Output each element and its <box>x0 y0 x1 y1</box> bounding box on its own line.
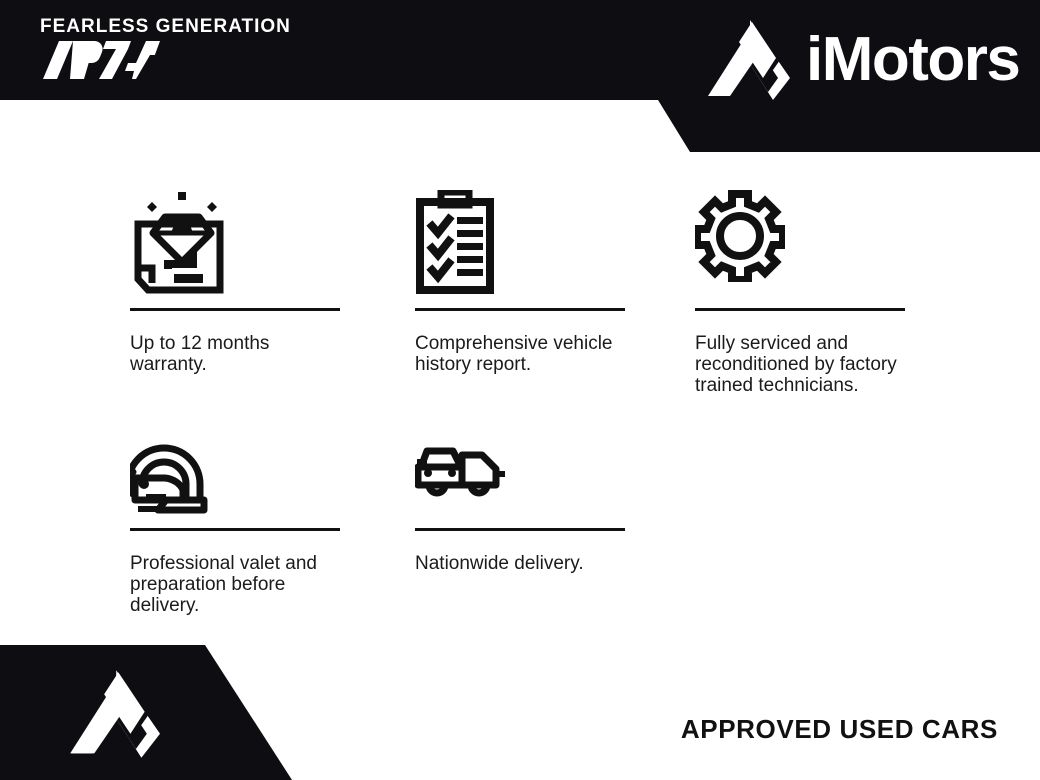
feature-divider <box>130 308 340 311</box>
feature-divider <box>130 528 340 531</box>
1971-logo <box>40 39 160 81</box>
feature-item-history-report: Comprehensive vehicle history report. <box>415 190 695 396</box>
feature-text: Fully serviced and reconditioned by fact… <box>695 333 900 396</box>
feature-item-delivery: Nationwide delivery. <box>415 416 695 616</box>
feature-item-valet: Professional valet and preparation befor… <box>130 416 415 616</box>
fearless-generation-title: FEARLESS GENERATION <box>40 16 291 38</box>
imotors-chevron-mark-icon <box>706 20 790 100</box>
imotors-wordmark: iMotors <box>806 29 1019 91</box>
vacuum-cleaner-icon <box>130 416 415 528</box>
fearless-generation-block: FEARLESS GENERATION <box>40 16 291 81</box>
promo-page: FEARLESS GENERATION <box>0 0 1040 780</box>
clipboard-checklist-icon <box>415 190 695 308</box>
feature-text: Nationwide delivery. <box>415 553 620 574</box>
feature-grid: Up to 12 months warranty. <box>130 190 920 616</box>
feature-divider <box>415 528 625 531</box>
feature-divider <box>695 308 905 311</box>
page-header: FEARLESS GENERATION <box>0 0 1040 155</box>
feature-row-2: Professional valet and preparation befor… <box>130 416 920 616</box>
warranty-certificate-diamond-icon <box>130 190 415 308</box>
feature-text: Comprehensive vehicle history report. <box>415 333 625 375</box>
feature-item-warranty: Up to 12 months warranty. <box>130 190 415 396</box>
feature-item-serviced: Fully serviced and reconditioned by fact… <box>695 190 920 396</box>
car-transporter-truck-icon <box>415 416 695 528</box>
feature-text: Up to 12 months warranty. <box>130 333 335 375</box>
imotors-brand-lockup[interactable]: iMotors <box>706 20 1019 100</box>
approved-used-cars-tagline: APPROVED USED CARS <box>681 714 998 745</box>
feature-row-1: Up to 12 months warranty. <box>130 190 920 396</box>
imotors-chevron-mark-icon <box>68 666 160 762</box>
feature-text: Professional valet and preparation befor… <box>130 553 335 616</box>
footer-background-shape <box>0 645 300 780</box>
feature-empty-cell <box>695 416 920 616</box>
feature-divider <box>415 308 625 311</box>
gear-cog-icon <box>695 190 920 308</box>
